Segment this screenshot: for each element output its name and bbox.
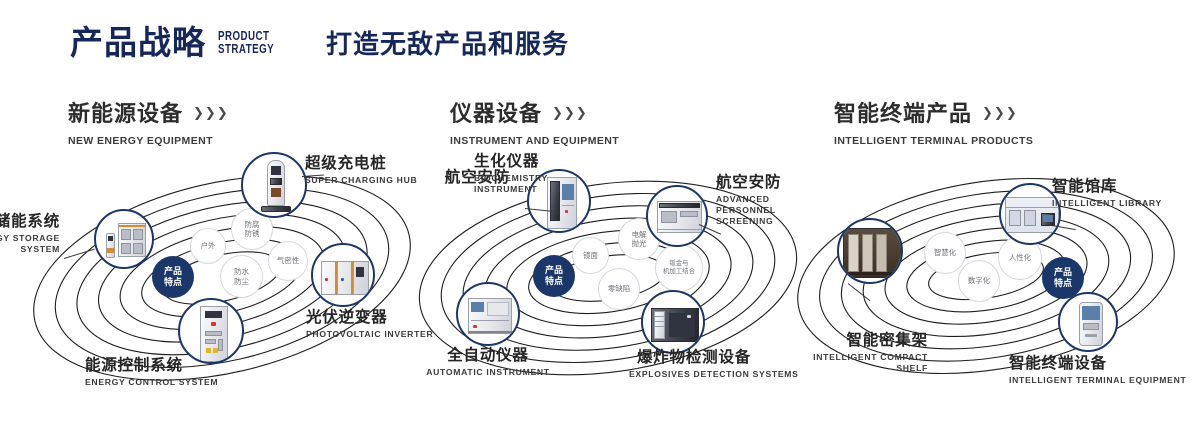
feature-label: 钣金与 [669,260,688,268]
page-title-english-line1: PRODUCT [218,30,274,43]
node-label-automatic-instrument: 全自动仪器 AUTOMATIC INSTRUMENT [425,347,551,378]
node-bubble-explosives-detector[interactable] [641,290,705,354]
ev-charging-pile-icon [243,154,305,216]
feature-label: 户外 [201,241,216,250]
section-heading-cn: 仪器设备 [450,96,542,128]
node-bubble-charging-hub[interactable] [241,152,307,218]
node-label-en: INTELLIGENT LIBRARY [1052,198,1162,209]
node-label-en: ENERGY STORAGE SYSTEM [0,233,60,255]
node-label-en: EXPLOSIVES DETECTION SYSTEMS [629,369,759,380]
feature-label-2: 防尘 [234,277,249,286]
page-header: 产品战略 PRODUCT STRATEGY 打造无敌产品和服务 [70,24,569,61]
node-bubble-energy-storage[interactable] [94,209,154,269]
core-badge-product-features: 产品 特点 [533,255,575,297]
feature-label-2: 防锈 [245,229,260,238]
feature-label: 零缺陷 [608,284,630,293]
core-label-line2: 特点 [164,277,182,288]
feature-label-2: 抛光 [632,239,647,248]
feature-label: 防水 [234,267,249,276]
node-label-cn: 能源控制系统 [85,357,218,375]
node-bubble-automatic-instrument[interactable] [456,282,520,346]
core-badge-product-features: 产品 特点 [152,256,194,298]
node-label-en: INTELLIGENT COMPACT SHELF [780,352,928,374]
feature-label: 人性化 [1009,253,1031,262]
core-label-line1: 产品 [1054,267,1072,278]
feature-label: 智慧化 [934,248,956,257]
screening-scanner-icon [648,187,706,245]
node-label-en: ENERGY CONTROL SYSTEM [85,377,218,388]
chevron-right-icon: ❯❯❯ [552,106,587,119]
feature-label-2: 机加工结合 [663,268,695,276]
diagram-new-energy: 户外 防腐 防锈 防水 防尘 气密性 产品 特点 [0,150,440,400]
pv-inverter-cabinet-icon [313,245,373,305]
feature-bubble: 户外 [190,228,226,264]
section-heading-cn: 智能终端产品 [834,96,972,128]
core-label-line1: 产品 [545,265,563,276]
node-bubble-pv-inverter[interactable] [311,243,375,307]
energy-storage-cabinet-icon [96,211,152,267]
section-heading-intelligent-terminal: 智能终端产品 ❯❯❯ INTELLIGENT TERMINAL PRODUCTS [834,96,1033,147]
feature-bubble: 防水 防尘 [220,255,263,298]
feature-bubble: 镜面 [572,237,609,274]
node-label-cn: 储能系统 [0,213,60,231]
feature-bubble: 钣金与 机加工结合 [655,244,703,292]
node-bubble-compact-shelving[interactable] [837,218,903,284]
feature-label: 数字化 [968,276,990,285]
node-label-cn: 智能密集架 [780,332,928,350]
node-label-biochemistry: 生化仪器 BIOCHEMISTRY INSTRUMENT [474,153,552,195]
explosives-detector-icon [643,292,703,352]
node-label-cn: 全自动仪器 [425,347,551,365]
core-label-line1: 产品 [164,266,182,277]
feature-label: 气密性 [277,256,299,265]
feature-label: 防腐 [245,220,260,229]
node-label-cn: 智能终端设备 [1009,355,1186,373]
node-label-cn: 智能馆库 [1052,178,1162,196]
section-heading-en: INTELLIGENT TERMINAL PRODUCTS [834,135,1033,147]
node-label-terminal-equipment: 智能终端设备 INTELLIGENT TERMINAL EQUIPMENT [1009,355,1186,386]
page-title-english: PRODUCT STRATEGY [218,30,274,56]
feature-bubble: 气密性 [268,241,308,281]
section-heading-new-energy: 新能源设备 ❯❯❯ NEW ENERGY EQUIPMENT [68,96,228,147]
compact-shelving-icon [839,220,901,282]
feature-bubble: 智慧化 [924,232,966,274]
node-label-cn: 生化仪器 [474,153,552,171]
node-label-energy-control: 能源控制系统 ENERGY CONTROL SYSTEM [85,357,218,388]
node-label-en: AUTOMATIC INSTRUMENT [425,367,551,378]
node-label-en: INTELLIGENT TERMINAL EQUIPMENT [1009,375,1186,386]
node-bubble-terminal-kiosk[interactable] [1058,292,1118,352]
core-label-line2: 特点 [1054,278,1072,289]
core-label-line2: 特点 [545,276,563,287]
section-heading-cn: 新能源设备 [68,96,183,128]
page-slogan: 打造无敌产品和服务 [326,24,569,61]
node-bubble-screening[interactable] [646,185,708,247]
diagram-intelligent-terminal: 智慧化 数字化 人性化 产品 特点 [790,150,1200,400]
diagram-instrument: 镜面 电解 抛光 钣金与 机加工结合 零缺陷 产品 特点 [400,150,820,400]
page-title: 产品战略 [70,26,206,59]
self-service-kiosk-icon [1060,294,1116,350]
node-label-en: BIOCHEMISTRY INSTRUMENT [474,173,552,195]
feature-bubble: 零缺陷 [598,268,640,310]
section-heading-en: NEW ENERGY EQUIPMENT [68,135,228,147]
node-label-smart-library: 智能馆库 INTELLIGENT LIBRARY [1052,178,1162,209]
node-label-energy-storage: 储能系统 ENERGY STORAGE SYSTEM [0,213,60,255]
feature-bubble: 数字化 [958,260,1000,302]
smart-archive-room-icon [1001,185,1059,243]
node-label-compact-shelving: 智能密集架 INTELLIGENT COMPACT SHELF [780,332,928,374]
feature-label: 电解 [632,230,647,239]
node-label-cn: 爆炸物检测设备 [629,349,759,367]
chevron-right-icon: ❯❯❯ [982,106,1017,119]
section-heading-en: INSTRUMENT AND EQUIPMENT [450,135,619,147]
chevron-right-icon: ❯❯❯ [193,106,228,119]
node-label-explosives-detector: 爆炸物检测设备 EXPLOSIVES DETECTION SYSTEMS [629,349,759,380]
automatic-instrument-icon [458,284,518,344]
node-bubble-energy-control[interactable] [178,298,244,364]
section-heading-instrument: 仪器设备 ❯❯❯ INSTRUMENT AND EQUIPMENT [450,96,619,147]
page-title-english-line2: STRATEGY [218,43,274,56]
feature-label: 镜面 [583,251,598,260]
control-cabinet-icon [180,300,242,362]
